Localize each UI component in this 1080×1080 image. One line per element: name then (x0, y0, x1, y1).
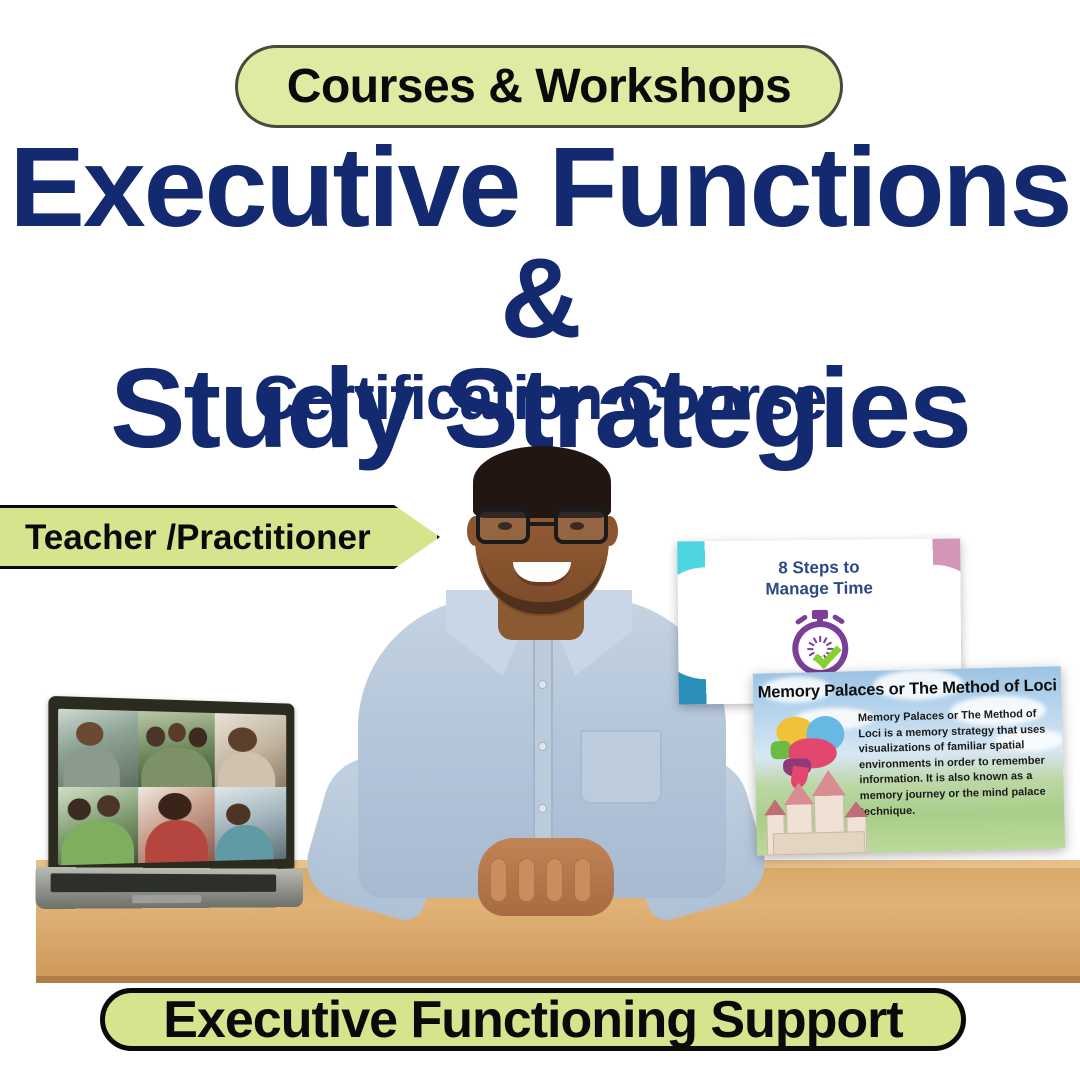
slide-card-memory-palaces: Memory Palaces or The Method of Loci Mem… (753, 666, 1065, 855)
laptop-bezel (58, 709, 286, 866)
collage-tile (138, 787, 214, 863)
audience-banner-label: Teacher /Practitioner (0, 520, 371, 555)
collage-tile (58, 787, 138, 865)
castle-illustration (761, 767, 879, 856)
eyeglasses-icon (476, 508, 608, 544)
executive-functioning-support-badge: Executive Functioning Support (100, 988, 966, 1051)
collage-tile (138, 711, 214, 787)
collage-tile (58, 709, 138, 787)
shirt-pocket (580, 730, 662, 804)
eight-steps-title: 8 Steps to Manage Time (677, 557, 960, 601)
eight-steps-title-line-2: Manage Time (765, 578, 873, 598)
laptop-trackpad (132, 895, 201, 903)
shirt-button (538, 804, 547, 813)
shirt-button (538, 742, 547, 751)
executive-functioning-support-label: Executive Functioning Support (163, 994, 902, 1046)
laptop-keyboard (51, 873, 277, 892)
collage-tile (214, 713, 286, 787)
poster-canvas: Courses & Workshops Executive Functions … (0, 0, 1080, 1080)
eyeglass-bridge (530, 522, 554, 526)
eyeglass-lens-left (476, 508, 530, 544)
laptop-screen (48, 696, 294, 876)
laptop-collage (58, 709, 286, 866)
memory-palaces-body: Memory Palaces or The Method of Loci is … (858, 706, 1057, 820)
eyeglass-lens-right (554, 508, 608, 544)
shirt-button (538, 680, 547, 689)
audience-banner: Teacher /Practitioner (0, 505, 440, 569)
courses-workshops-badge-label: Courses & Workshops (287, 63, 791, 111)
laptop-base (35, 867, 303, 909)
stopwatch-icon (788, 610, 851, 677)
headline-subtitle: Certification Course (0, 368, 1080, 430)
collage-tile (214, 787, 286, 861)
headline-line-1: Executive Functions & (0, 132, 1080, 353)
courses-workshops-badge: Courses & Workshops (235, 45, 843, 128)
clasped-hands (478, 838, 614, 916)
eight-steps-title-line-1: 8 Steps to (778, 558, 859, 578)
